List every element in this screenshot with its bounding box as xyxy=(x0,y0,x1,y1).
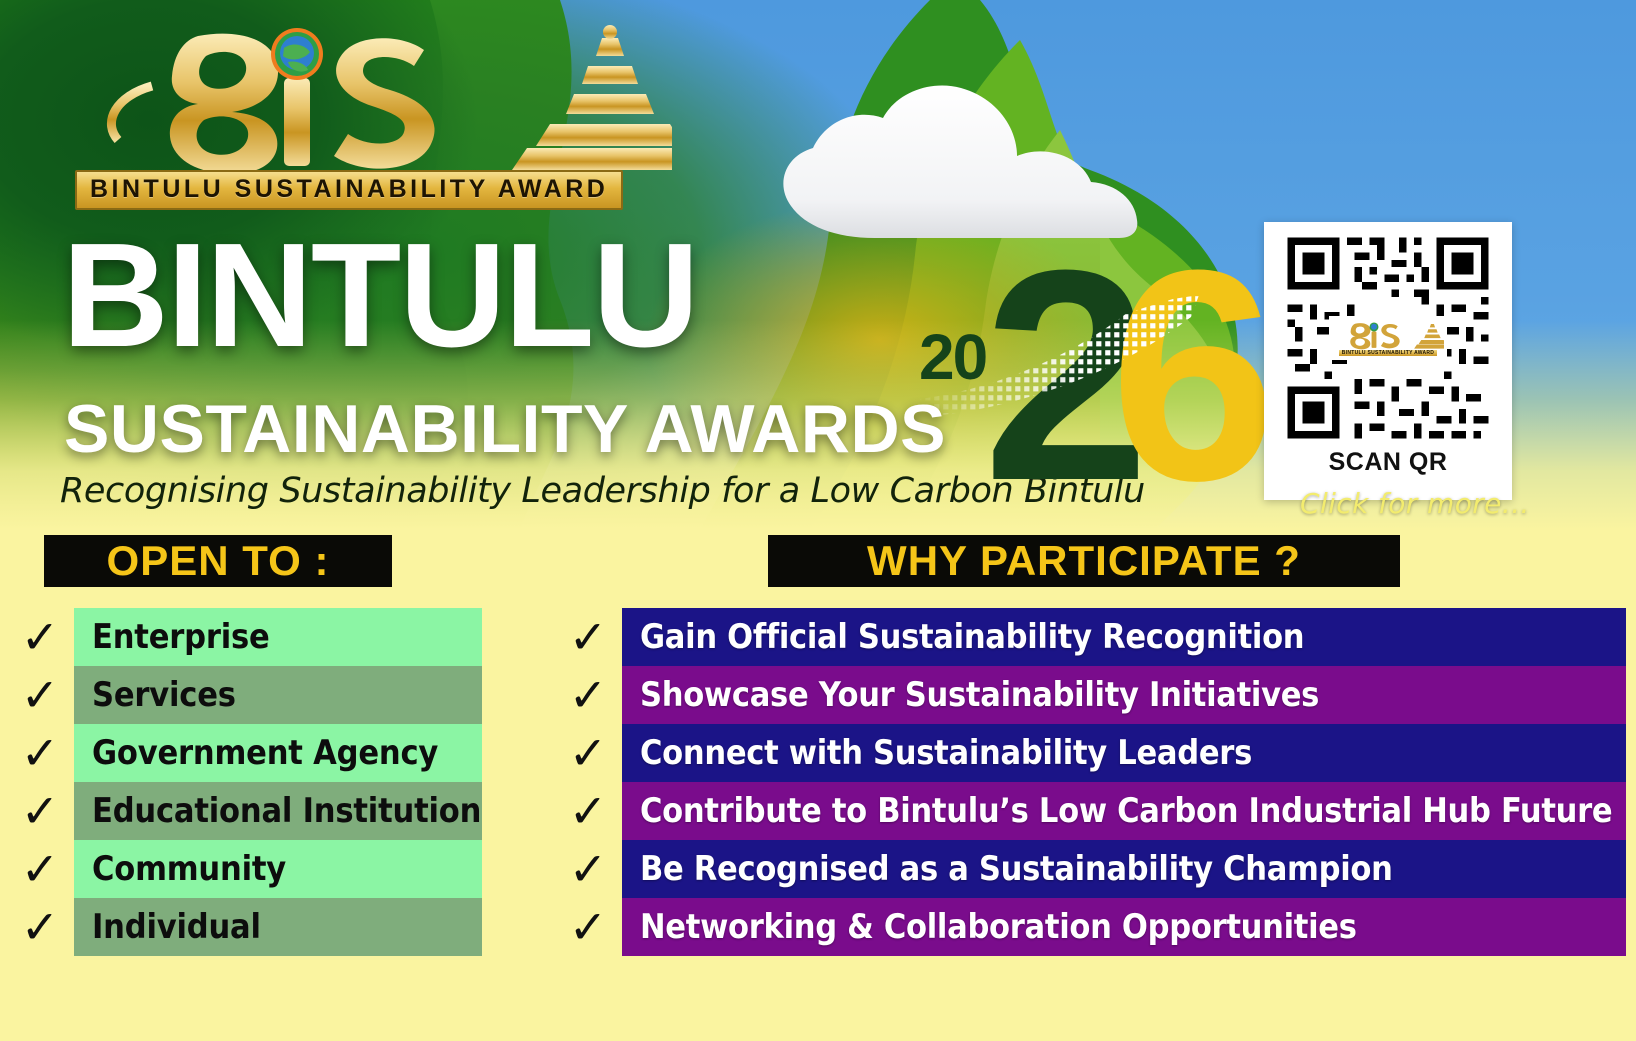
why-participate-item-label: Be Recognised as a Sustainability Champi… xyxy=(622,840,1626,898)
why-participate-list: ✓Gain Official Sustainability Recognitio… xyxy=(560,608,1626,956)
qr-embedded-logo-band: BINTULU SUSTAINABILITY AWARD xyxy=(1339,350,1437,356)
year-prefix-20: 20 xyxy=(919,320,986,394)
logo-band-text: BINTULU SUSTAINABILITY AWARD xyxy=(90,175,608,203)
page-title: BINTULU xyxy=(62,228,697,364)
check-icon: ✓ xyxy=(12,730,68,776)
check-icon: ✓ xyxy=(12,672,68,718)
open-to-header-text: OPEN TO : xyxy=(107,537,330,585)
why-participate-item-label: Contribute to Bintulu’s Low Carbon Indus… xyxy=(622,782,1626,840)
open-to-item-label: Enterprise xyxy=(74,608,482,666)
qr-click-for-more-link[interactable]: Click for more... xyxy=(1300,487,1530,520)
qr-embedded-logo: BINTULU SUSTAINABILITY AWARD xyxy=(1329,316,1447,360)
poster-canvas: BINTULU SUSTAINABILITY AWARD BINTULU SUS… xyxy=(0,0,1636,1041)
open-to-item-label: Individual xyxy=(74,898,482,956)
check-icon: ✓ xyxy=(12,614,68,660)
open-to-list: ✓Enterprise✓Services✓Government Agency✓E… xyxy=(12,608,482,956)
open-to-item-label: Government Agency xyxy=(74,724,482,782)
why-participate-row: ✓Contribute to Bintulu’s Low Carbon Indu… xyxy=(560,782,1626,840)
open-to-row: ✓Enterprise xyxy=(12,608,482,666)
check-icon: ✓ xyxy=(560,904,616,950)
why-participate-item-label: Gain Official Sustainability Recognition xyxy=(622,608,1626,666)
open-to-row: ✓Individual xyxy=(12,898,482,956)
why-participate-row: ✓Connect with Sustainability Leaders xyxy=(560,724,1626,782)
why-participate-header: WHY PARTICIPATE ? xyxy=(768,535,1400,587)
open-to-row: ✓Services xyxy=(12,666,482,724)
year-digit-6: 6 xyxy=(1110,225,1277,525)
check-icon: ✓ xyxy=(560,788,616,834)
logo-band: BINTULU SUSTAINABILITY AWARD xyxy=(75,170,623,210)
page-subtitle: SUSTAINABILITY AWARDS xyxy=(64,395,946,463)
check-icon: ✓ xyxy=(12,904,68,950)
bisa-logo-mark xyxy=(72,22,672,172)
open-to-item-label: Community xyxy=(74,840,482,898)
why-participate-row: ✓Showcase Your Sustainability Initiative… xyxy=(560,666,1626,724)
why-participate-item-label: Showcase Your Sustainability Initiatives xyxy=(622,666,1626,724)
why-participate-header-text: WHY PARTICIPATE ? xyxy=(867,537,1301,585)
open-to-row: ✓Educational Institutions xyxy=(12,782,482,840)
qr-code-image[interactable]: BINTULU SUSTAINABILITY AWARD xyxy=(1272,230,1504,446)
check-icon: ✓ xyxy=(560,730,616,776)
check-icon: ✓ xyxy=(12,788,68,834)
check-icon: ✓ xyxy=(560,672,616,718)
year-graphic: 2 6 20 xyxy=(905,235,1215,500)
open-to-header: OPEN TO : xyxy=(44,535,392,587)
why-participate-item-label: Networking & Collaboration Opportunities xyxy=(622,898,1626,956)
check-icon: ✓ xyxy=(12,846,68,892)
why-participate-item-label: Connect with Sustainability Leaders xyxy=(622,724,1626,782)
bisa-logo[interactable]: BINTULU SUSTAINABILITY AWARD xyxy=(72,22,672,212)
why-participate-row: ✓Networking & Collaboration Opportunitie… xyxy=(560,898,1626,956)
open-to-row: ✓Government Agency xyxy=(12,724,482,782)
qr-embedded-logo-mark xyxy=(1332,320,1444,350)
check-icon: ✓ xyxy=(560,846,616,892)
qr-caption: SCAN QR xyxy=(1329,448,1448,477)
open-to-row: ✓Community xyxy=(12,840,482,898)
why-participate-row: ✓Be Recognised as a Sustainability Champ… xyxy=(560,840,1626,898)
why-participate-row: ✓Gain Official Sustainability Recognitio… xyxy=(560,608,1626,666)
check-icon: ✓ xyxy=(560,614,616,660)
qr-code-card[interactable]: BINTULU SUSTAINABILITY AWARD SCAN QR xyxy=(1264,222,1512,500)
open-to-item-label: Educational Institutions xyxy=(74,782,482,840)
open-to-item-label: Services xyxy=(74,666,482,724)
